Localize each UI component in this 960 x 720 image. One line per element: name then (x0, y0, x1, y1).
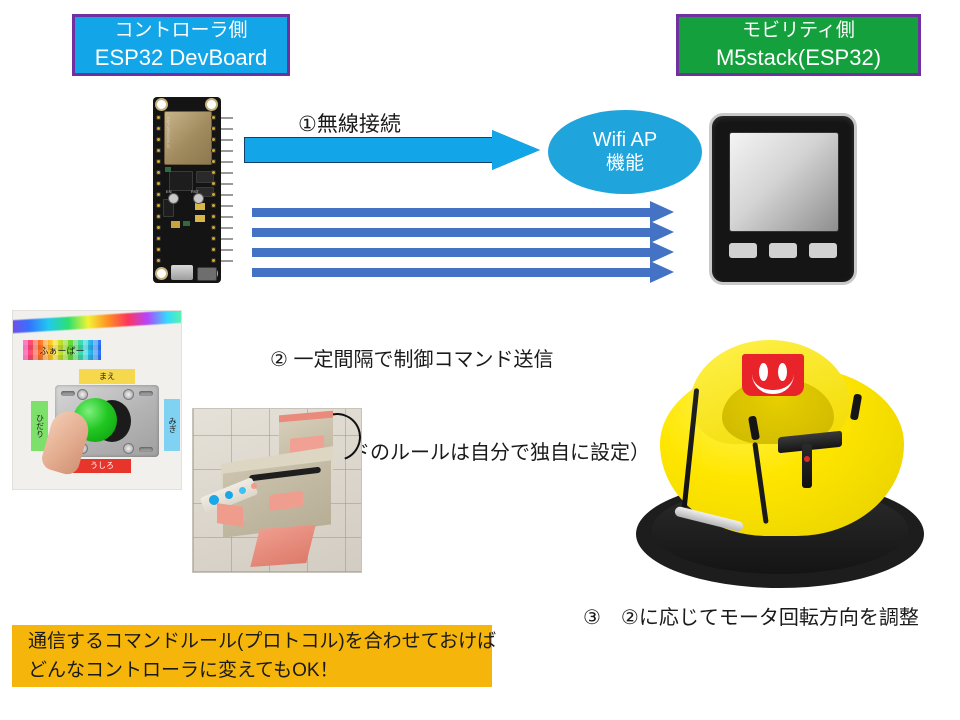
usb-serial-chip (169, 171, 193, 191)
header-pad (156, 126, 161, 131)
joycon-marker (251, 483, 257, 489)
command-arrow (252, 226, 692, 238)
esp32-rf-shield (164, 111, 212, 165)
header-pad (211, 247, 216, 252)
header-pin (221, 161, 233, 163)
callout-line1: 通信するコマンドルール(プロトコル)を合わせておけば (28, 627, 492, 656)
capacitor (171, 221, 180, 228)
plate-slot (139, 391, 153, 396)
arrow-head (650, 201, 674, 223)
micro-usb-port (197, 267, 217, 281)
capacitor (195, 203, 205, 210)
header-pad (211, 225, 216, 230)
command-arrow (252, 266, 692, 278)
mount-hole (157, 100, 166, 109)
header-pad (211, 181, 216, 186)
header-pad (211, 258, 216, 263)
header-pad (156, 192, 161, 197)
header-pad (156, 247, 161, 252)
rgb-led-strip (12, 310, 182, 333)
shield-print: ESP-WROOM-32 (166, 117, 171, 148)
m5stack-screen (729, 132, 839, 232)
header-pad (156, 159, 161, 164)
header-pin (221, 150, 233, 152)
mount-hole (207, 100, 216, 109)
header-pad (156, 258, 161, 263)
reset-label: RST (191, 189, 199, 194)
header-pin (221, 238, 233, 240)
header-pin (221, 216, 233, 218)
m5stack-photo (709, 113, 857, 285)
plate-screw (123, 443, 134, 454)
header-pad (211, 159, 216, 164)
header-pad (211, 126, 216, 131)
wifi-ap-node: Wifi AP 機能 (548, 110, 702, 194)
callout-line2: どんなコントローラに変えてもOK！ (28, 656, 492, 685)
labo-cardboard-photo (192, 408, 362, 573)
plate-screw (77, 389, 88, 400)
step2-label-line1: ② 一定間隔で制御コマンド送信 (270, 345, 650, 376)
arrow-head (492, 130, 540, 170)
header-pad (156, 137, 161, 142)
pink-front-block (250, 525, 315, 567)
m5stack-button-b (769, 243, 797, 258)
header-pad (156, 148, 161, 153)
label-right: みぎ (164, 399, 180, 451)
plate-screw (123, 389, 134, 400)
header-pin (221, 183, 233, 185)
plate-slot (61, 391, 75, 396)
protocol-callout-box: 通信するコマンドルール(プロトコル)を合わせておけば どんなコントローラに変えて… (12, 625, 492, 687)
boot-button (168, 193, 179, 204)
step3-label: ③ ②に応じてモータ回転方向を調整 (583, 601, 919, 630)
header-pad (156, 203, 161, 208)
arrow-head (650, 261, 674, 283)
resistor (183, 221, 190, 226)
capacitor (195, 215, 205, 222)
header-pin (221, 260, 233, 262)
label-backward: うしろ (73, 459, 131, 473)
pink-flap (217, 503, 243, 527)
button-panel-photo: ふぁーばー まえ ひだり みぎ うしろ (12, 310, 182, 490)
wifi-ap-title: Wifi AP (593, 128, 657, 152)
resistor (165, 167, 171, 172)
boot-label: EN (166, 189, 172, 194)
controller-side-title: コントローラ側 (114, 18, 247, 44)
command-arrow (252, 246, 692, 258)
mobility-side-title: モビリティ側 (742, 18, 855, 44)
mobility-side-header: モビリティ側 M5stack(ESP32) (676, 14, 921, 76)
arrow-shaft (244, 137, 494, 163)
ride-on-car-photo (630, 330, 930, 592)
controller-side-header: コントローラ側 ESP32 DevBoard (72, 14, 290, 76)
usb-connector (171, 265, 193, 280)
arrow-head (650, 221, 674, 243)
header-pad (156, 115, 161, 120)
arrow-shaft (252, 228, 652, 237)
header-pad (156, 214, 161, 219)
header-pad (211, 115, 216, 120)
header-pad (156, 236, 161, 241)
header-pad (211, 236, 216, 241)
header-pad (156, 225, 161, 230)
arrow-shaft (252, 268, 652, 277)
esp32-devboard-photo: ESP-WROOM-32 EN RST (141, 97, 233, 283)
plate-slot (139, 447, 153, 452)
controller-side-subtitle: ESP32 DevBoard (95, 44, 267, 72)
wireless-connection-arrow (244, 130, 540, 170)
mobility-side-subtitle: M5stack(ESP32) (716, 44, 881, 72)
label-forward: まえ (79, 369, 135, 384)
header-pad (211, 214, 216, 219)
header-pin (221, 117, 233, 119)
power-led (804, 456, 810, 462)
reset-button (193, 193, 204, 204)
header-pin (221, 227, 233, 229)
slide-canvas: コントローラ側 ESP32 DevBoard モビリティ側 M5stack(ES… (0, 0, 960, 720)
header-pin (221, 139, 233, 141)
command-arrow (252, 206, 692, 218)
rainbow-sticker-text: ふぁーばー (39, 344, 84, 357)
arrow-shaft (252, 208, 652, 217)
arrow-head (650, 241, 674, 263)
rainbow-sticker: ふぁーばー (23, 340, 101, 360)
header-pad (211, 203, 216, 208)
header-pin (221, 128, 233, 130)
header-pad (211, 148, 216, 153)
header-pin (221, 205, 233, 207)
header-pin (221, 194, 233, 196)
header-pad (211, 170, 216, 175)
header-pad (156, 181, 161, 186)
header-pad (211, 192, 216, 197)
arrow-shaft (252, 248, 652, 257)
header-pad (156, 170, 161, 175)
m5stack-button-a (729, 243, 757, 258)
m5stack-button-c (809, 243, 837, 258)
joystick-column (802, 444, 812, 488)
header-pin (221, 249, 233, 251)
header-pad (211, 137, 216, 142)
header-pin (221, 172, 233, 174)
wifi-ap-subtitle: 機能 (606, 152, 644, 176)
mount-hole (157, 269, 166, 278)
